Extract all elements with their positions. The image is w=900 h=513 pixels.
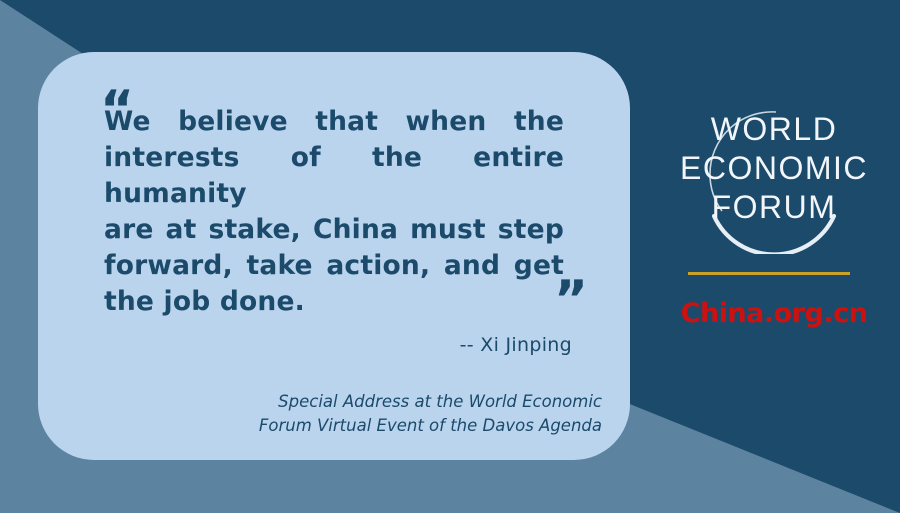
- branding-column: WORLD ECONOMIC FORUM China.org.cn: [648, 0, 900, 513]
- quote-line: interests of the entire humanity: [104, 140, 564, 212]
- wef-line-3: FORUM: [712, 189, 837, 225]
- quote-line: are at stake, China must step: [104, 212, 564, 248]
- quote-line: We believe that when the: [104, 104, 564, 140]
- quote-attribution: -- Xi Jinping: [460, 334, 572, 356]
- wef-line-1: WORLD: [711, 111, 838, 147]
- close-quote-mark: ”: [554, 274, 586, 326]
- gold-divider: [688, 272, 850, 275]
- quote-line: the job done.: [104, 284, 564, 320]
- world-economic-forum-logo: WORLD ECONOMIC FORUM: [648, 104, 900, 254]
- quote-text: We believe that when the interests of th…: [104, 104, 564, 320]
- source-line: Special Address at the World Economic: [38, 390, 602, 414]
- quote-line: forward, take action, and get: [104, 248, 564, 284]
- quote-source: Special Address at the World Economic Fo…: [38, 390, 602, 438]
- quote-card: “ We believe that when the interests of …: [38, 52, 630, 460]
- publisher-logo: China.org.cn: [648, 298, 900, 329]
- source-line: Forum Virtual Event of the Davos Agenda: [38, 414, 602, 438]
- wef-line-2: ECONOMIC: [680, 150, 868, 186]
- quote-poster: “ We believe that when the interests of …: [0, 0, 900, 513]
